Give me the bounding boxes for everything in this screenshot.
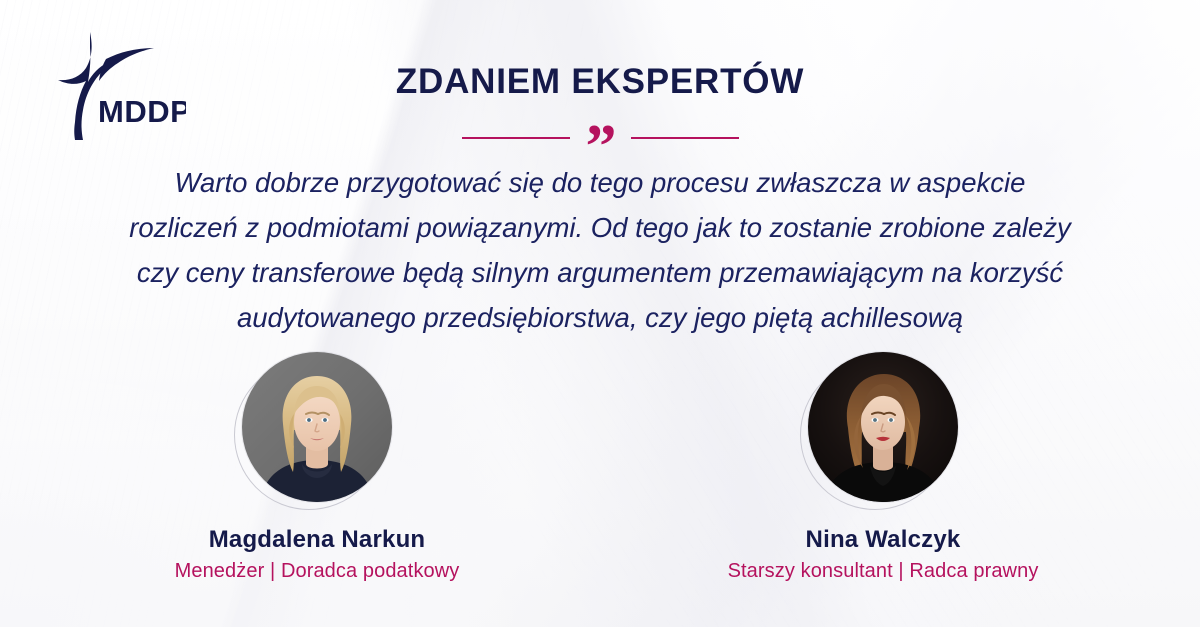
expert-role: Starszy konsultant | Radca prawny <box>718 560 1048 583</box>
avatar-wrapper-1 <box>242 352 392 502</box>
avatar-wrapper-2 <box>808 352 958 502</box>
page-title: ZDANIEM EKSPERTÓW <box>0 62 1200 102</box>
quote-line-1: Warto dobrze przygotować się do tego pro… <box>50 160 1150 205</box>
experts-row: Magdalena Narkun Menedżer | Doradca poda… <box>0 352 1200 583</box>
quote-line-3: czy ceny transferowe będą silnym argumen… <box>50 250 1150 295</box>
expert-card-2: Nina Walczyk Starszy konsultant | Radca … <box>718 352 1048 583</box>
divider-rule-left <box>462 137 570 139</box>
expert-name: Nina Walczyk <box>718 526 1048 554</box>
decorative-divider: ” <box>0 121 1200 155</box>
expert-role: Menedżer | Doradca podatkowy <box>152 560 482 583</box>
quote-line-2: rozliczeń z podmiotami powiązanymi. Od t… <box>50 205 1150 250</box>
avatar <box>808 352 958 502</box>
expert-card-1: Magdalena Narkun Menedżer | Doradca poda… <box>152 352 482 583</box>
expert-quote-card: MDDP ZDANIEM EKSPERTÓW ” Warto dobrze pr… <box>0 0 1200 627</box>
divider-rule-right <box>631 137 739 139</box>
avatar <box>242 352 392 502</box>
expert-name: Magdalena Narkun <box>152 526 482 554</box>
quote-line-4: audytowanego przedsiębiorstwa, czy jego … <box>50 295 1150 340</box>
expert-quote: Warto dobrze przygotować się do tego pro… <box>50 160 1150 340</box>
